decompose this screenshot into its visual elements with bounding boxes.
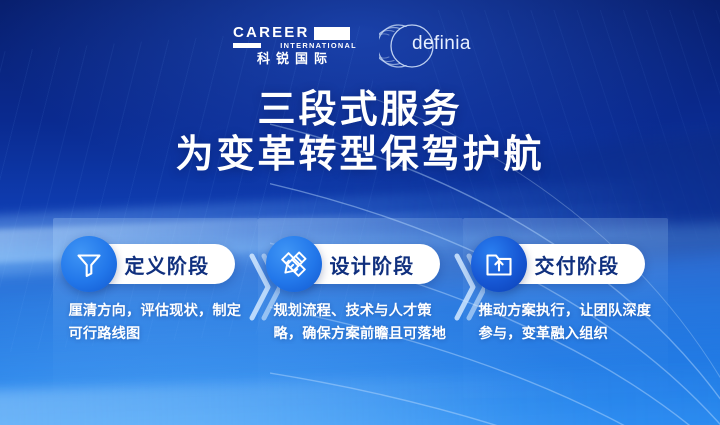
- phase-card-define[interactable]: 定义阶段 厘清方向，评估现状，制定可行路线图: [53, 218, 258, 398]
- phase-description: 推动方案执行，让团队深度参与，变革融入组织: [479, 300, 656, 346]
- header-logo-row: CAREER INTERNATIONAL 科锐国际 definia: [0, 20, 720, 72]
- pencil-ruler-icon: [266, 236, 322, 292]
- phase-label: 定义阶段: [125, 250, 210, 279]
- phase-description: 规划流程、技术与人才策略，确保方案前瞻且可落地: [274, 300, 451, 346]
- title-line-2: 为变革转型保驾护航: [0, 133, 720, 178]
- phase-card-row: 定义阶段 厘清方向，评估现状，制定可行路线图 设计阶段: [0, 218, 720, 408]
- banner-canvas: CAREER INTERNATIONAL 科锐国际 definia: [0, 0, 720, 425]
- career-international-logo: CAREER INTERNATIONAL 科锐国际: [233, 25, 357, 67]
- title-line-1: 三段式服务: [0, 88, 720, 133]
- phase-label: 交付阶段: [535, 250, 620, 279]
- funnel-icon: [61, 236, 117, 292]
- definia-logo-word: definia: [412, 34, 471, 53]
- career-logo-international: INTERNATIONAL: [264, 42, 357, 49]
- phase-card-design[interactable]: 设计阶段 规划流程、技术与人才策略，确保方案前瞻且可落地: [258, 218, 463, 398]
- page-title: 三段式服务 为变革转型保驾护航: [0, 88, 720, 178]
- phase-card-delivery[interactable]: 交付阶段 推动方案执行，让团队深度参与，变革融入组织: [463, 218, 668, 398]
- career-logo-chinese: 科锐国际: [233, 52, 357, 67]
- phase-label: 设计阶段: [330, 250, 415, 279]
- definia-logo: definia: [379, 23, 487, 69]
- phase-description: 厘清方向，评估现状，制定可行路线图: [69, 300, 246, 346]
- folder-upload-icon: [471, 236, 527, 292]
- career-logo-word: CAREER: [233, 25, 310, 40]
- career-logo-bar: [233, 43, 261, 48]
- career-logo-block: [314, 27, 350, 40]
